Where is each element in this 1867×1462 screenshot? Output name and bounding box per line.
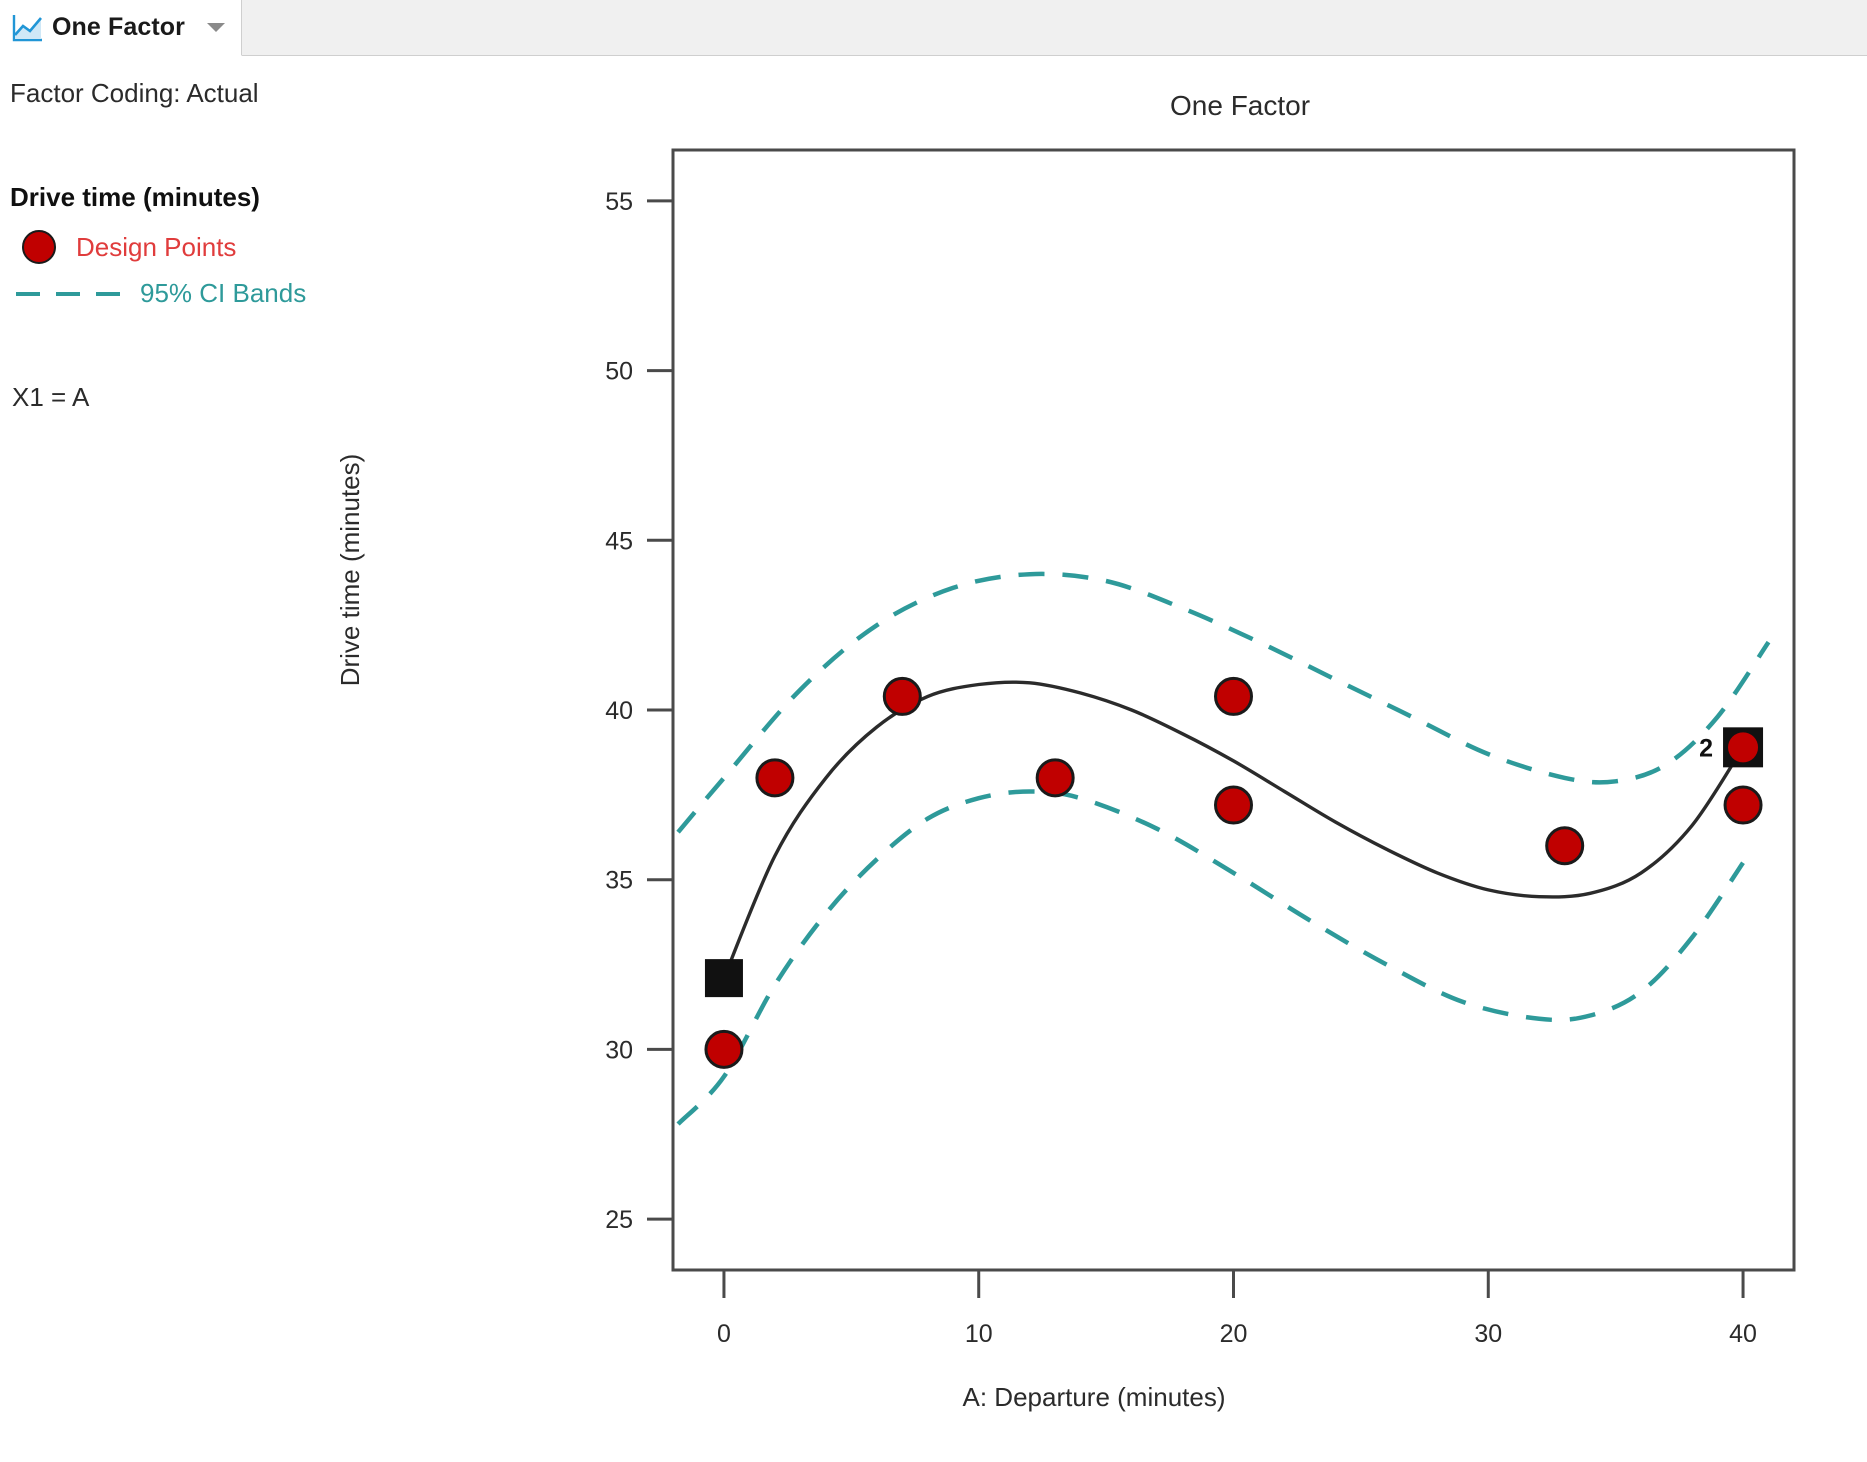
one-factor-graph-window: One Factor Factor Coding: Actual Drive t… [0,0,1867,1462]
y-tick-label: 35 [605,867,633,895]
x-tick-label: 20 [1220,1320,1248,1348]
design-point-marker[interactable] [757,760,793,796]
x-tick-label: 40 [1729,1320,1757,1348]
design-point-marker[interactable] [1216,678,1252,714]
design-point-marker[interactable] [1728,732,1758,762]
x-tick-label: 0 [717,1320,731,1348]
y-tick-label: 25 [605,1206,633,1234]
design-point-marker[interactable] [1547,828,1583,864]
x-tick-label: 10 [965,1320,993,1348]
y-tick-label: 45 [605,527,633,555]
design-point-marker[interactable] [706,1031,742,1067]
design-point-marker[interactable] [1216,787,1252,823]
plot-canvas: 253035404550550102030402 [0,0,1867,1462]
y-tick-label: 30 [605,1036,633,1064]
y-tick-label: 40 [605,697,633,725]
y-axis-title-wrap: Drive time (minutes) [455,540,515,840]
y-tick-label: 50 [605,358,633,386]
design-point-marker[interactable] [1725,787,1761,823]
y-tick-label: 55 [605,188,633,216]
y-axis-title: Drive time (minutes) [335,420,366,720]
x-axis-title: A: Departure (minutes) [963,1382,1226,1413]
predicted-point-marker[interactable] [705,959,743,997]
point-count-label: 2 [1699,734,1713,762]
design-point-marker[interactable] [884,678,920,714]
x-tick-label: 30 [1474,1320,1502,1348]
design-point-marker[interactable] [1037,760,1073,796]
